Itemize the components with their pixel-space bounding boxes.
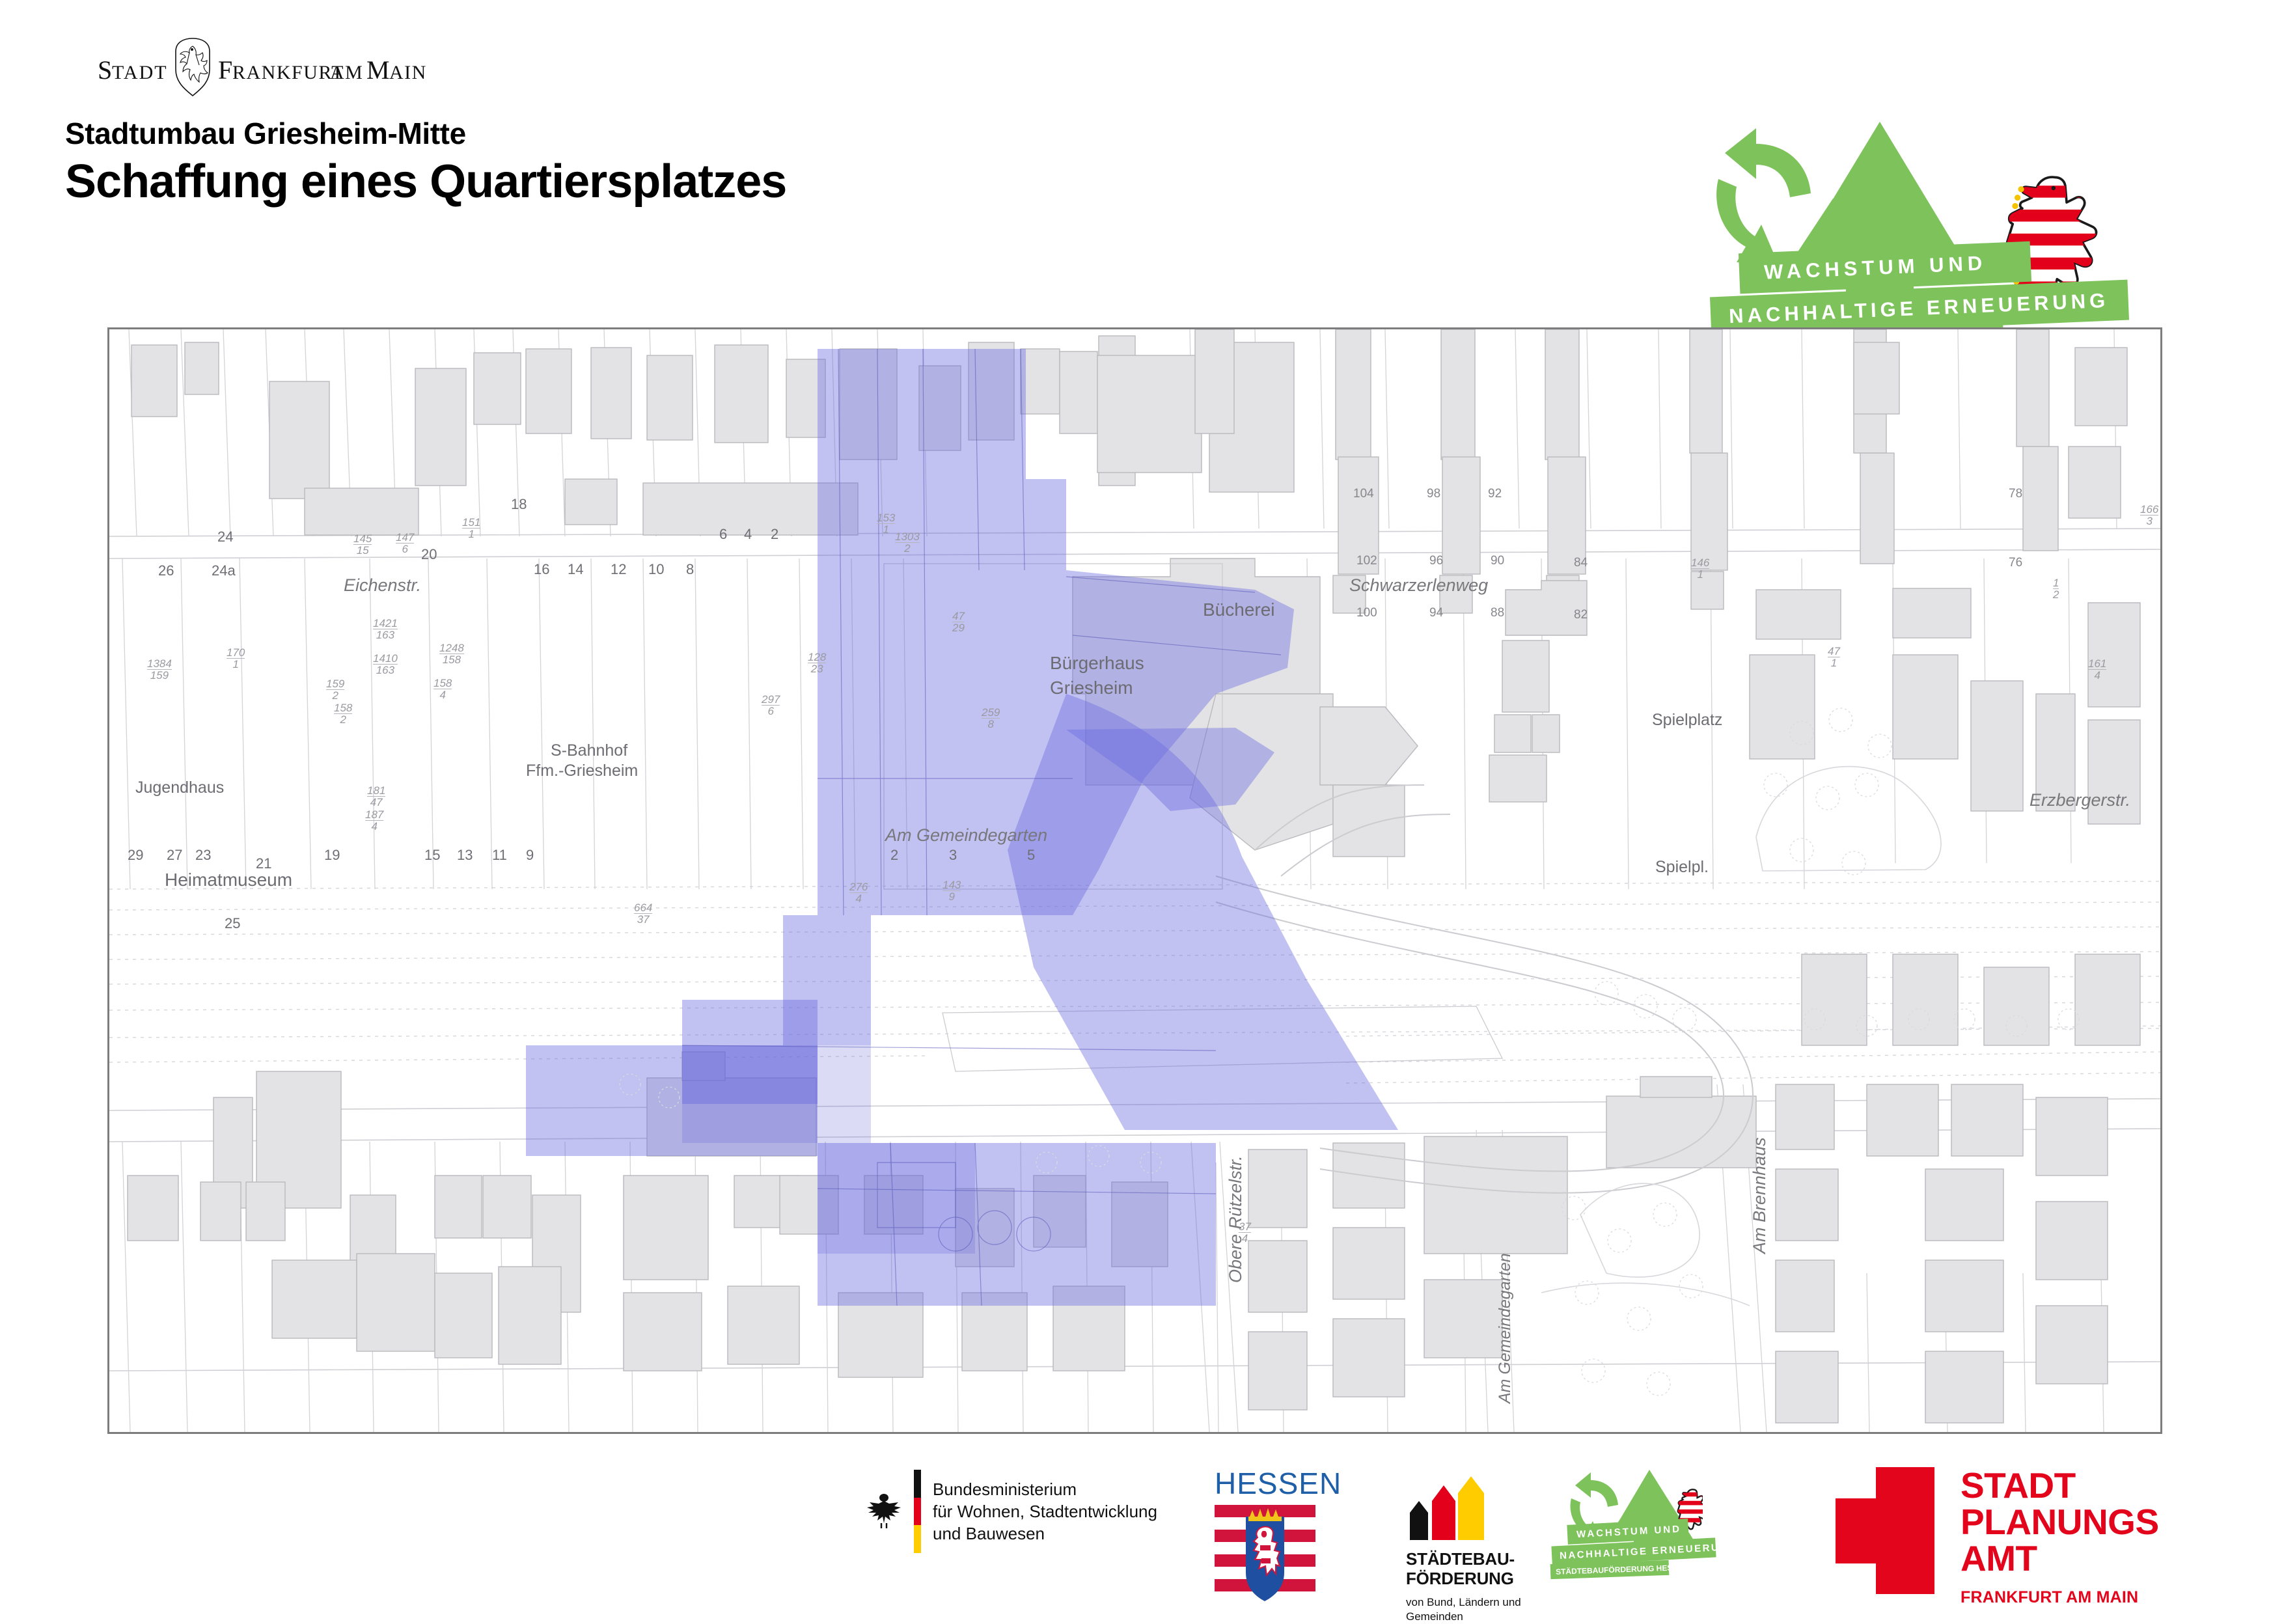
page-title-block: Stadtumbau Griesheim-Mitte Schaffung ein… bbox=[65, 117, 786, 208]
svg-text:AIN: AIN bbox=[389, 62, 427, 83]
map-canvas bbox=[109, 329, 2160, 1432]
svg-text:S: S bbox=[98, 55, 113, 85]
svg-text:AM: AM bbox=[330, 62, 363, 83]
logo-stadtplanungsamt: STADT PLANUNGS AMT FRANKFURT AM MAIN bbox=[1836, 1467, 2159, 1607]
hessen-coat-of-arms-icon bbox=[1215, 1505, 1315, 1604]
footer-logo-bar: Bundesministerium für Wohnen, Stadtentwi… bbox=[0, 1458, 2284, 1614]
map-vector bbox=[109, 329, 2160, 1432]
bm-line-3: und Bauwesen bbox=[933, 1522, 1157, 1545]
page-subtitle: Stadtumbau Griesheim-Mitte bbox=[65, 117, 786, 150]
stb-line-2: FÖRDERUNG bbox=[1406, 1569, 1521, 1589]
stb-sub-1: von Bund, Ländern und bbox=[1406, 1595, 1521, 1610]
page-title: Schaffung eines Quartiersplatzes bbox=[65, 156, 786, 208]
svg-text:TADT: TADT bbox=[112, 62, 168, 83]
badge-line-1: WACHSTUM UND bbox=[1739, 251, 1987, 285]
badge-line-2: NACHHALTIGE ERNEUERUNG bbox=[1711, 289, 2110, 329]
wachstum-small-band-3: STÄDTEBAUFÖRDERUNG HESSEN bbox=[1550, 1560, 1670, 1579]
stb-line-1: STÄDTEBAU- bbox=[1406, 1550, 1521, 1569]
svg-text:RANKFURT: RANKFURT bbox=[232, 62, 344, 83]
bm-line-2: für Wohnen, Stadtentwicklung bbox=[933, 1500, 1157, 1522]
recycle-arrow-icon bbox=[1716, 128, 1811, 262]
logo-staedtebaufoerderung: STÄDTEBAU- FÖRDERUNG von Bund, Ländern u… bbox=[1406, 1475, 1521, 1624]
spa-line-3: AMT bbox=[1961, 1540, 2159, 1576]
spa-line-2: PLANUNGS bbox=[1961, 1504, 2159, 1540]
wachstum-small-line-3: STÄDTEBAUFÖRDERUNG HESSEN bbox=[1550, 1562, 1688, 1576]
city-logo: S TADT F RANKFURT AM M AIN bbox=[98, 36, 514, 98]
logo-bundesministerium: Bundesministerium für Wohnen, Stadtentwi… bbox=[866, 1470, 1157, 1553]
logo-hessen: HESSEN bbox=[1215, 1466, 1342, 1607]
bm-line-1: Bundesministerium bbox=[933, 1478, 1157, 1500]
spa-sub: FRANKFURT AM MAIN bbox=[1961, 1588, 2159, 1607]
logo-wachstum-small: WACHSTUM UND NACHHALTIGE ERNEUERUNG STÄD… bbox=[1562, 1467, 1777, 1591]
svg-text:F: F bbox=[218, 55, 232, 85]
stb-sub-2: Gemeinden bbox=[1406, 1610, 1521, 1624]
bundesministerium-text: Bundesministerium für Wohnen, Stadtentwi… bbox=[933, 1478, 1157, 1545]
staedtebau-houses-icon bbox=[1406, 1475, 1487, 1540]
federal-eagle-icon bbox=[866, 1491, 902, 1532]
spa-line-1: STADT bbox=[1961, 1467, 2159, 1504]
wachstum-small-line-1: WACHSTUM UND bbox=[1567, 1523, 1682, 1540]
hessen-wordmark: HESSEN bbox=[1215, 1466, 1342, 1501]
svg-text:M: M bbox=[366, 55, 390, 85]
cadastral-map[interactable]: Eichenstr. Schwarzerlenweg Am Gemeindega… bbox=[107, 327, 2162, 1434]
stadtplanungsamt-mark-icon bbox=[1836, 1467, 1934, 1594]
